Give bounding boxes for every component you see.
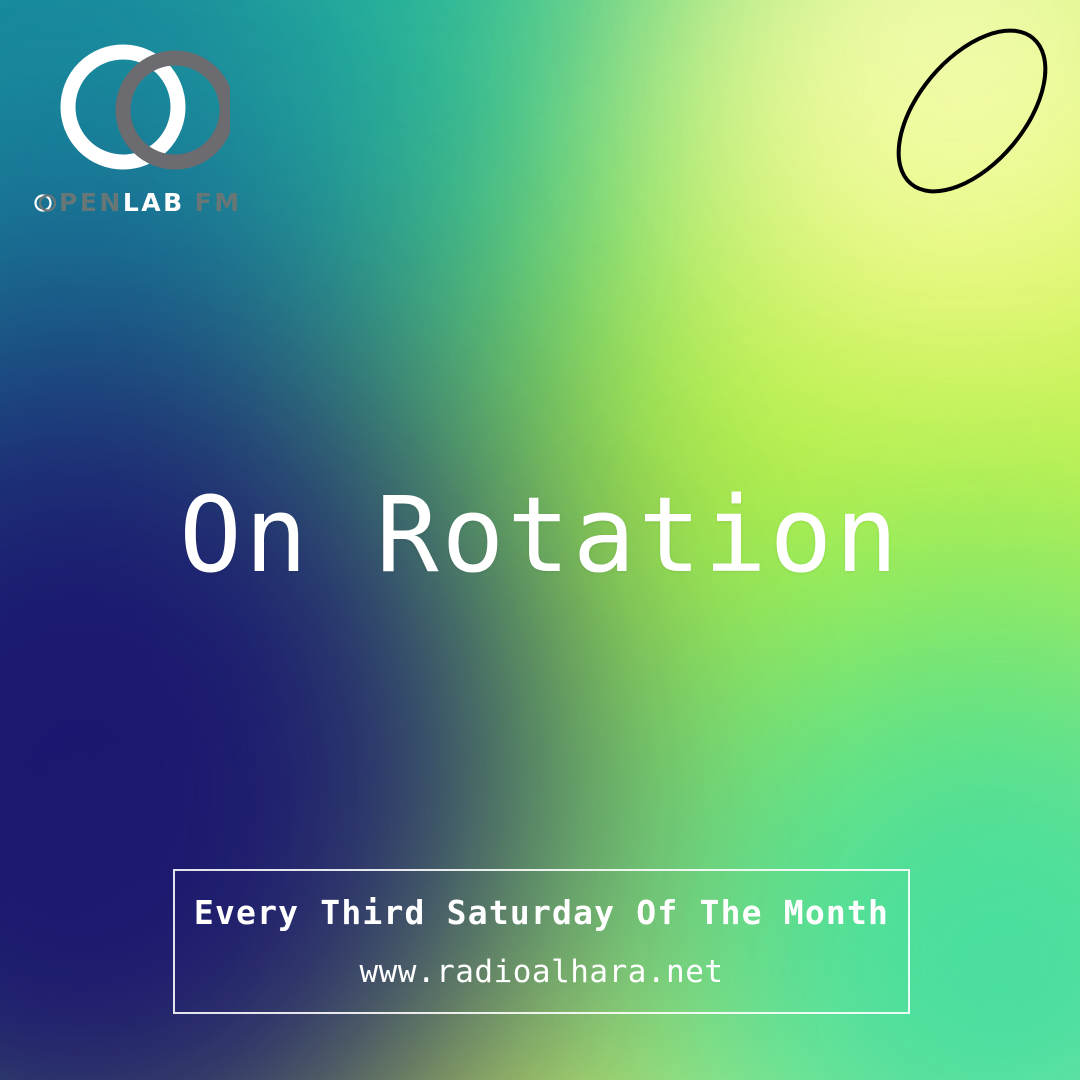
page-title: On Rotation: [0, 478, 1080, 592]
wordmark-lab: LAB: [123, 190, 185, 215]
wordmark-pen: PEN: [59, 190, 123, 215]
openlab-fm-wordmark: PEN LAB FM: [34, 190, 290, 215]
openlab-fm-logo[interactable]: PEN LAB FM: [30, 22, 290, 215]
schedule-text: Every Third Saturday Of The Month: [194, 893, 889, 932]
info-box: Every Third Saturday Of The Month www.ra…: [173, 869, 910, 1014]
ring-o-icon: [34, 192, 56, 214]
poster-canvas: PEN LAB FM On Rotation Every Third Satur…: [0, 0, 1080, 1080]
two-overlapping-rings-icon: [30, 22, 230, 182]
website-link[interactable]: www.radioalhara.net: [359, 954, 723, 990]
wordmark-fm: FM: [195, 190, 242, 215]
